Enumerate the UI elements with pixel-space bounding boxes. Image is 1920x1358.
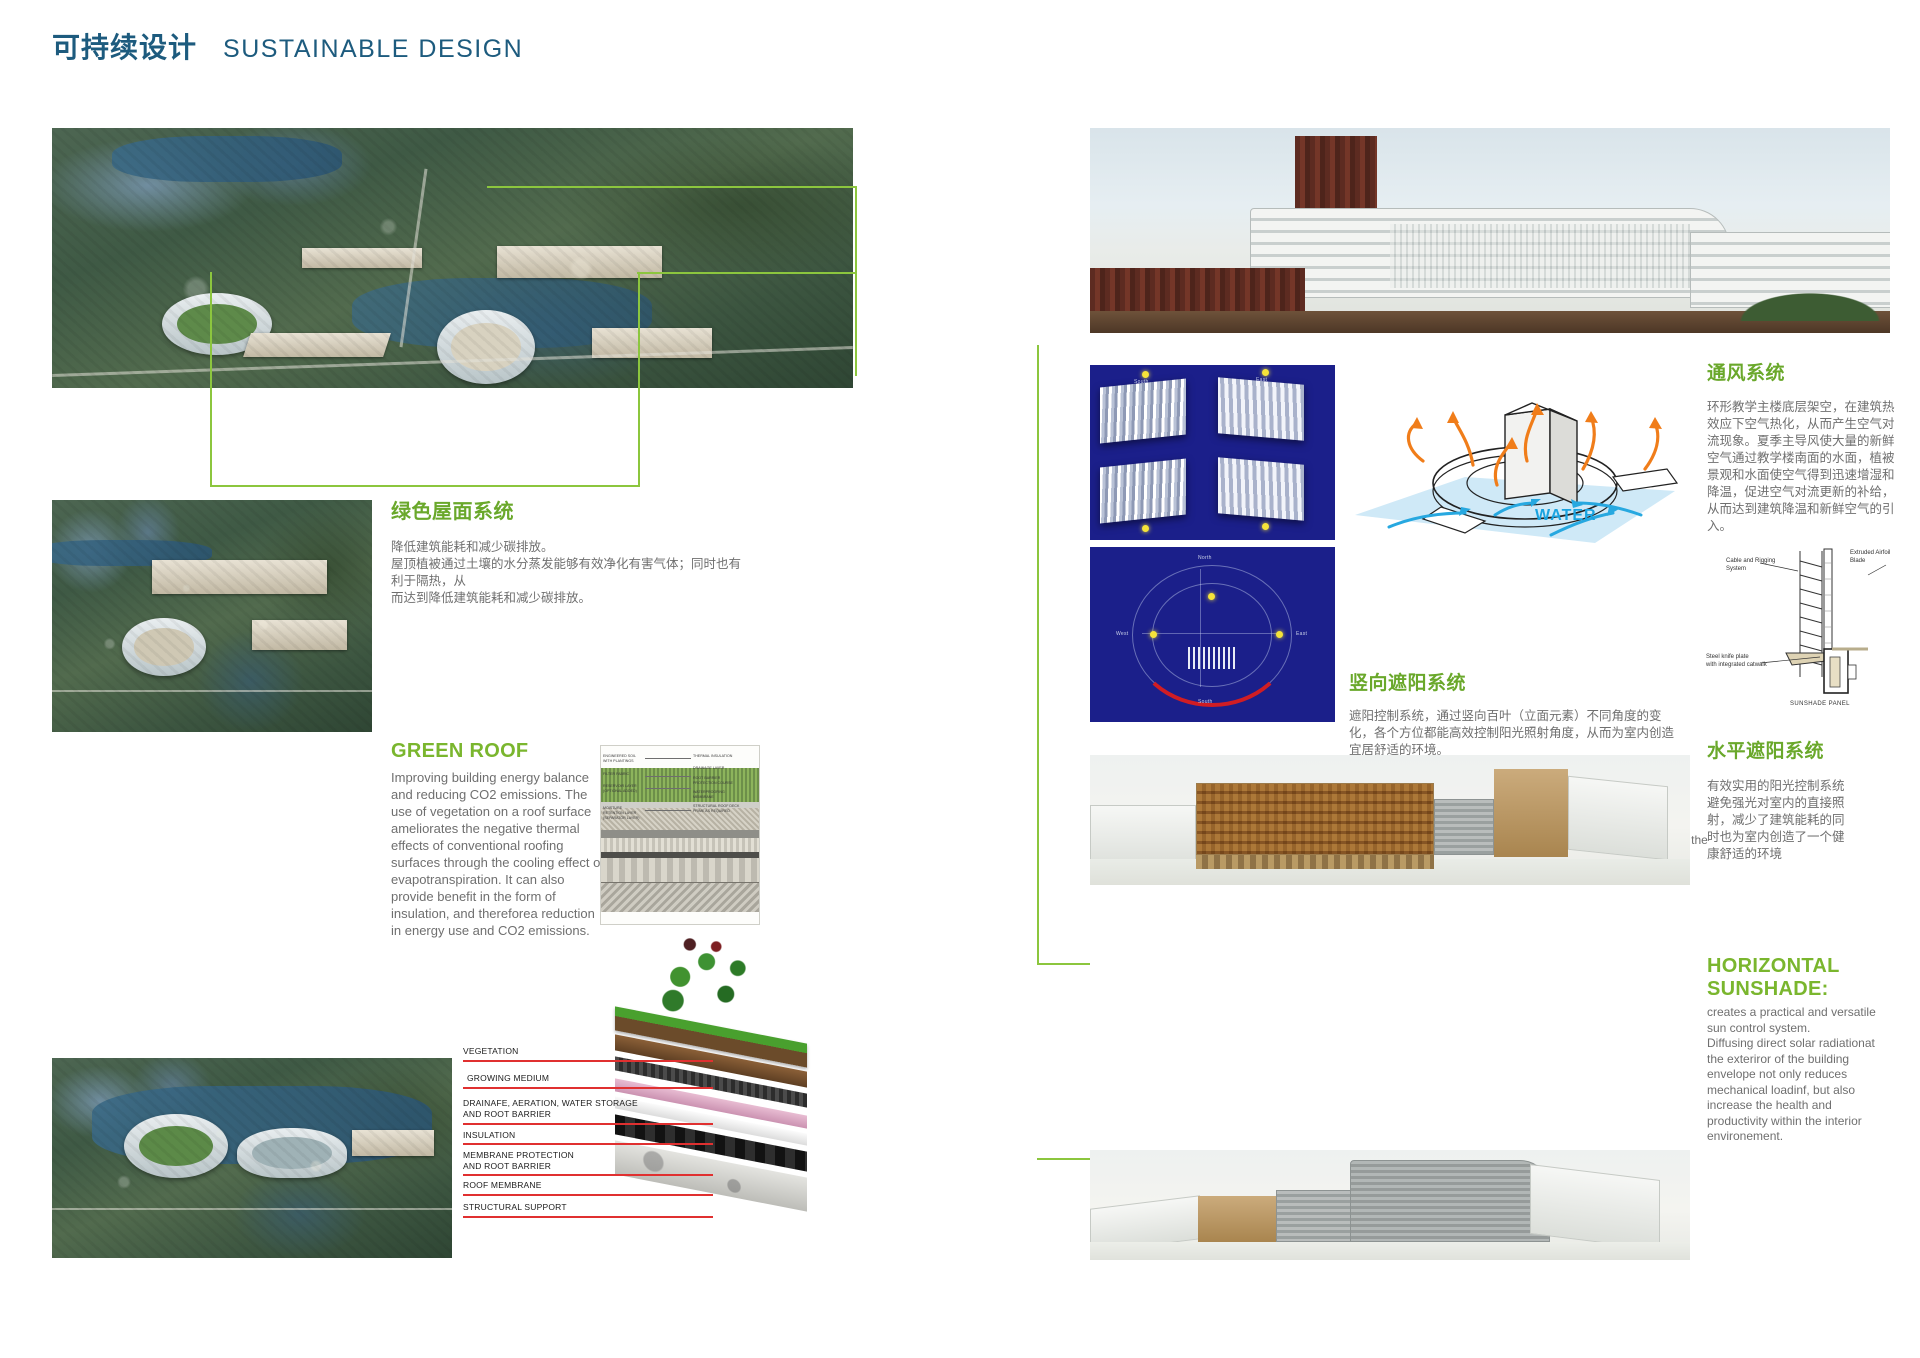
ventilation-airflow-axonometric: WATER bbox=[1345, 365, 1695, 550]
section-label-8: STRUCTURAL ROOF DECK PRIME AS REQUIRED bbox=[693, 804, 739, 814]
horizontal-sunshade-heading-cn: 水平遮阳系统 bbox=[1707, 740, 1895, 764]
page-title-cn: 可持续设计 bbox=[52, 26, 197, 66]
compass-label-north: North bbox=[1198, 555, 1212, 561]
building-elevation-render-top bbox=[1090, 128, 1890, 333]
section-label-2: RESERVOIR LAYER (OPTIONAL ADDED) bbox=[603, 784, 637, 794]
connector-line-to-vent bbox=[1037, 1158, 1090, 1160]
stack-label-insulation: INSULATION bbox=[463, 1130, 515, 1141]
vertical-sunshade-body-cn: 遮阳控制系统，通过竖向百叶（立面元素）不同角度的变化，各个方位都能高效控制阳光照… bbox=[1349, 708, 1679, 759]
stack-label-membrane-protection: MEMBRANE PROTECTION AND ROOT BARRIER bbox=[463, 1150, 574, 1172]
cad-label-extruded-airfoil: Extruded Airfoil Blade bbox=[1850, 549, 1890, 565]
sun-path-diagram-panel: North South West East bbox=[1090, 547, 1335, 722]
compass-label-south: South bbox=[1198, 699, 1213, 705]
ventilation-text-block: 通风系统 环形教学主楼底层架空，在建筑热效应下空气热化，从而产生空气对流现象。夏… bbox=[1707, 362, 1895, 535]
stack-label-roof-membrane: ROOF MEMBRANE bbox=[463, 1180, 542, 1191]
presentation-board: 可持续设计 SUSTAINABLE DESIGN 绿色屋面系统 降低建筑能耗和减… bbox=[0, 0, 1920, 1358]
section-label-6: ROOT BARRIER PROTECTION COURSE bbox=[693, 776, 733, 786]
water-label: WATER bbox=[1535, 507, 1597, 525]
stack-label-structural-support: STRUCTURAL SUPPORT bbox=[463, 1202, 567, 1213]
section-label-3: MOISTURE RETENTION LAYER (SEPARATOR LAYE… bbox=[603, 806, 639, 821]
compass-label-east-a: East bbox=[1256, 377, 1267, 383]
green-roof-en-block: GREEN ROOF Improving building energy bal… bbox=[391, 740, 607, 939]
connector-line-right-vertical bbox=[855, 186, 857, 376]
compass-label-west: West bbox=[1116, 631, 1129, 637]
ventilation-body-cn: 环形教学主楼底层架空，在建筑热效应下空气热化，从而产生空气对流现象。夏季主导风使… bbox=[1707, 399, 1895, 535]
stack-label-vegetation: VEGETATION bbox=[463, 1046, 519, 1057]
page-title-en: SUSTAINABLE DESIGN bbox=[223, 35, 523, 64]
connector-line-mid bbox=[637, 272, 857, 274]
horizontal-sunshade-text-block: 水平遮阳系统 有效实用的阳光控制系统 避免强光对室内的直接照 射，减少了建筑能耗… bbox=[1707, 740, 1895, 863]
connector-line-to-facade bbox=[1037, 963, 1090, 965]
green-roof-text-block: 绿色屋面系统 降低建筑能耗和减少碳排放。 屋顶植被通过土壤的水分蒸发能够有效净化… bbox=[391, 500, 751, 607]
section-label-1: FILTER FABRIC bbox=[603, 772, 629, 777]
connector-line-right-long bbox=[1037, 345, 1039, 965]
horizontal-sunshade-heading-en: HORIZONTAL SUNSHADE: bbox=[1707, 955, 1877, 1001]
green-roof-buildup-section-detail: ENGINEERED SOIL WITH PLANTINGS FILTER FA… bbox=[600, 745, 760, 925]
green-roof-body-cn: 降低建筑能耗和减少碳排放。 屋顶植被通过土壤的水分蒸发能够有效净化有害气体；同时… bbox=[391, 539, 751, 607]
green-roof-heading-cn: 绿色屋面系统 bbox=[391, 500, 751, 525]
green-roof-body-en: Improving building energy balance and re… bbox=[391, 769, 607, 939]
cad-label-cable-rigging: Cable and Rigging System bbox=[1726, 557, 1775, 573]
stack-label-growing-medium: GROWING MEDIUM bbox=[467, 1073, 549, 1084]
vertical-louver-study-panel: South East bbox=[1090, 365, 1335, 540]
green-roof-heading-en: GREEN ROOF bbox=[391, 740, 607, 763]
vertical-sunshade-text-block: 竖向遮阳系统 遮阳控制系统，通过竖向百叶（立面元素）不同角度的变化，各个方位都能… bbox=[1349, 672, 1679, 759]
ventilation-svg bbox=[1345, 365, 1695, 550]
vertical-sunshade-heading-cn: 竖向遮阳系统 bbox=[1349, 672, 1679, 696]
aerial-lake-stadium-image bbox=[52, 1058, 452, 1258]
section-label-5: DRAINAGE LAYER bbox=[693, 766, 724, 771]
ventilation-heading-cn: 通风系统 bbox=[1707, 362, 1895, 386]
connector-line-bracket bbox=[210, 272, 640, 487]
cad-caption-sunshade-panel: SUNSHADE PANEL bbox=[1790, 701, 1850, 707]
campus-facade-render-middle bbox=[1090, 755, 1690, 885]
connector-line-top bbox=[487, 186, 857, 188]
section-label-4: THERMAL INSULATION bbox=[693, 754, 732, 759]
horizontal-sunshade-en-block: HORIZONTAL SUNSHADE: creates a practical… bbox=[1707, 955, 1877, 1145]
horizontal-sunshade-body-en: creates a practical and versatile sun co… bbox=[1707, 1005, 1877, 1145]
compass-label-south-a: South bbox=[1134, 379, 1149, 385]
cad-label-steel-knife-plate: Steel knife plate with integrated catwal… bbox=[1706, 653, 1767, 669]
aerial-campus-closeup-image bbox=[52, 500, 372, 732]
stack-label-drainage: DRAINAFE, AERATION, WATER STORAGE AND RO… bbox=[463, 1098, 638, 1120]
section-label-7: WATERPROOFING MEMBRANE bbox=[693, 790, 725, 800]
page-title: 可持续设计 SUSTAINABLE DESIGN bbox=[52, 26, 523, 66]
compass-label-east: East bbox=[1296, 631, 1307, 637]
green-roof-exploded-axonometric bbox=[615, 925, 835, 1255]
campus-facade-render-bottom bbox=[1090, 1150, 1690, 1260]
sunshade-panel-cad-detail: Extruded Airfoil Blade Cable and Rigging… bbox=[1700, 545, 1900, 730]
horizontal-sunshade-body-cn: 有效实用的阳光控制系统 避免强光对室内的直接照 射，减少了建筑能耗的同 时也为室… bbox=[1707, 778, 1895, 863]
section-label-0: ENGINEERED SOIL WITH PLANTINGS bbox=[603, 754, 636, 764]
